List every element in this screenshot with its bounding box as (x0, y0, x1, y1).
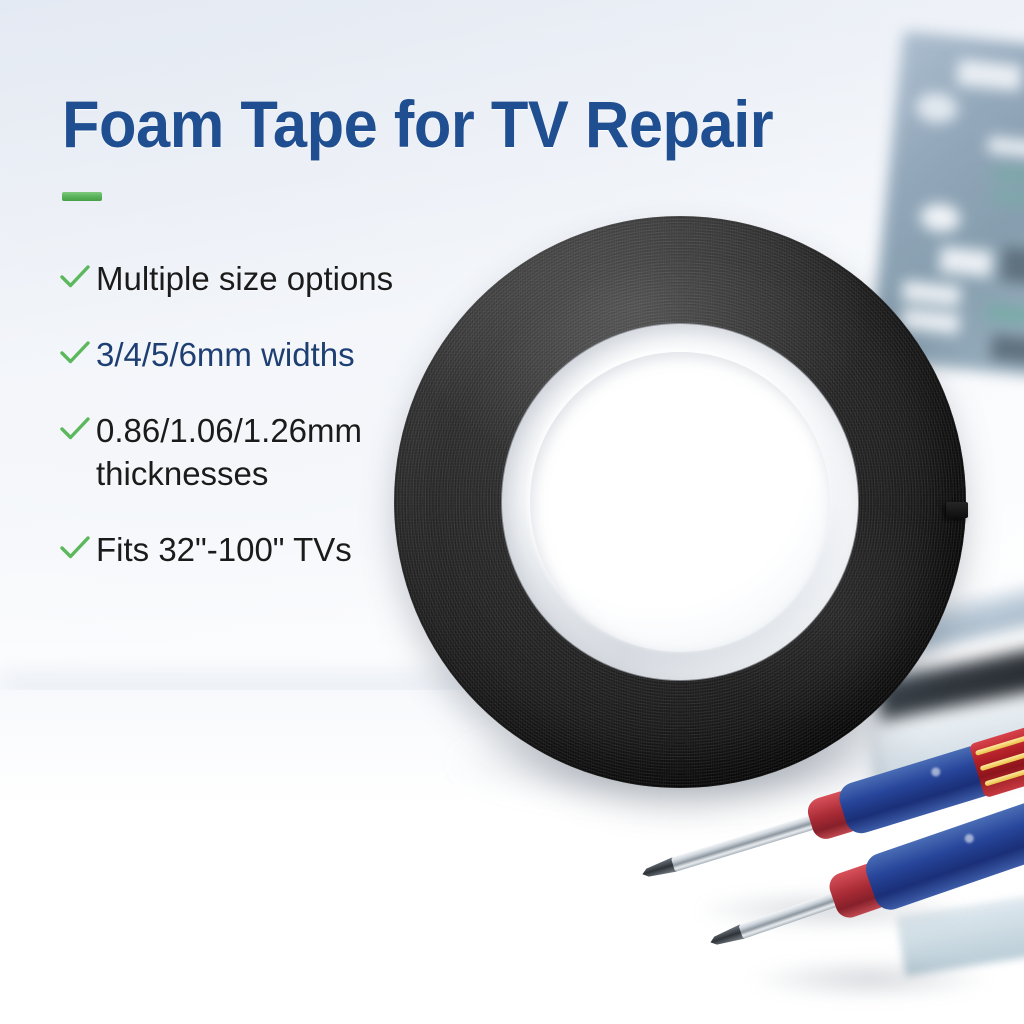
screwdriver-shadow (700, 950, 1024, 1008)
feature-label: Multiple size options (96, 258, 393, 300)
check-icon (60, 416, 90, 442)
tape-loose-end (946, 502, 968, 518)
feature-label: 0.86/1.06/1.26mm thicknesses (96, 410, 362, 494)
check-icon (60, 264, 90, 290)
check-icon (60, 340, 90, 366)
tape-roll (394, 216, 966, 788)
feature-label: Fits 32"-100" TVs (96, 529, 352, 571)
feature-list: Multiple size options 3/4/5/6mm widths 0… (60, 258, 460, 605)
accent-bar (62, 192, 102, 201)
feature-item-thicknesses: 0.86/1.06/1.26mm thicknesses (60, 410, 460, 494)
core-inner-lip (530, 352, 830, 652)
check-icon (60, 535, 90, 561)
tape-roll-core (502, 324, 858, 680)
feature-item-tv-sizes: Fits 32"-100" TVs (60, 529, 460, 571)
feature-item-size-options: Multiple size options (60, 258, 460, 300)
pcb-chip (1000, 247, 1024, 285)
product-image-canvas: Foam Tape for TV Repair Multiple size op… (0, 0, 1024, 1024)
feature-item-widths: 3/4/5/6mm widths (60, 334, 460, 376)
feature-label: 3/4/5/6mm widths (96, 334, 355, 376)
page-title: Foam Tape for TV Repair (62, 86, 773, 162)
